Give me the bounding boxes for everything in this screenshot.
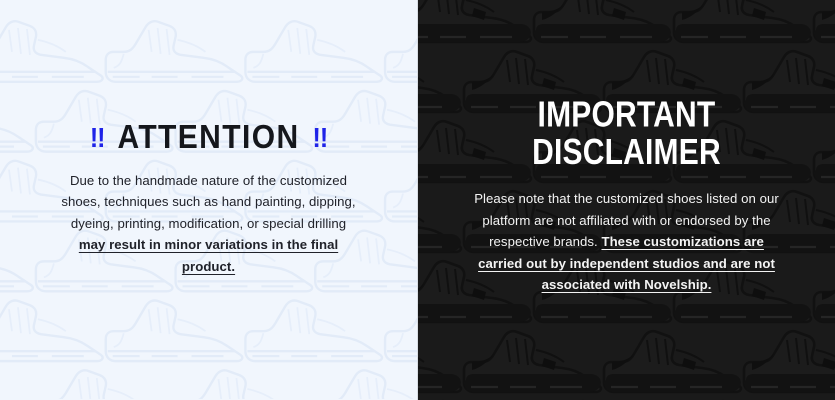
disclaimer-body: Please note that the customized shoes li…	[468, 188, 786, 296]
disclaimer-content: IMPORTANT DISCLAIMER Please note that th…	[418, 104, 835, 295]
attention-heading: !! ATTENTION !!	[48, 123, 369, 153]
attention-title: ATTENTION	[117, 121, 299, 155]
attention-body: Due to the handmade nature of the custom…	[59, 170, 359, 277]
attention-panel: !! ATTENTION !! Due to the handmade natu…	[0, 0, 418, 400]
disclaimer-title: IMPORTANT DISCLAIMER	[460, 98, 793, 172]
attention-body-emphasis: may result in minor variations in the fi…	[79, 237, 338, 273]
customization-notice-banner: !! ATTENTION !! Due to the handmade natu…	[0, 0, 835, 400]
attention-content: !! ATTENTION !! Due to the handmade natu…	[0, 123, 417, 277]
attention-body-lead: Due to the handmade nature of the custom…	[61, 173, 355, 231]
disclaimer-title-line-2: DISCLAIMER	[460, 135, 793, 172]
exclamation-right-icon: !!	[313, 124, 328, 152]
disclaimer-title-line-1: IMPORTANT	[460, 98, 793, 135]
disclaimer-panel: IMPORTANT DISCLAIMER Please note that th…	[418, 0, 835, 400]
exclamation-left-icon: !!	[90, 124, 105, 152]
